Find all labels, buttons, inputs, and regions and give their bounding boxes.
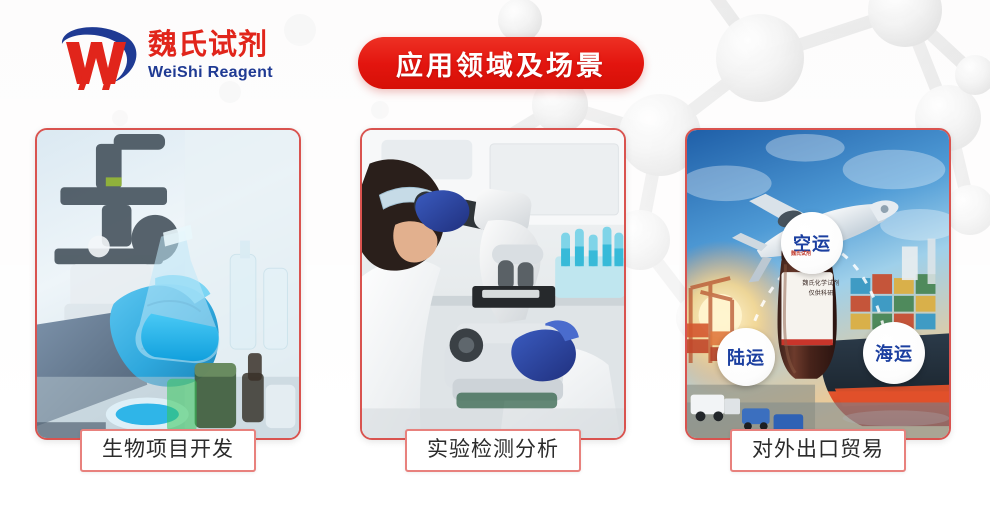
card-caption-text: 实验检测分析 bbox=[427, 438, 559, 461]
page-canvas: 魏氏试剂 WeiShi Reagent 应用领域及场景 bbox=[0, 0, 990, 513]
card-image-frame: 空运 陆运 海运 魏氏试剂 魏氏化学试剂 仅供科研 bbox=[685, 128, 951, 440]
card-export-trade[interactable]: 空运 陆运 海运 魏氏试剂 魏氏化学试剂 仅供科研 对外出口贸易 bbox=[685, 128, 951, 440]
bottle-label-line-1: 魏氏化学试剂 bbox=[793, 280, 849, 288]
card-caption: 实验检测分析 bbox=[405, 429, 581, 472]
card-caption: 对外出口贸易 bbox=[730, 429, 906, 472]
bottle-label-line-2: 仅供科研 bbox=[793, 290, 849, 298]
cards-row: 生物项目开发 bbox=[0, 0, 990, 513]
card-caption-text: 对外出口贸易 bbox=[752, 438, 884, 461]
logistics-bubble-air: 空运 bbox=[781, 212, 843, 274]
card-lab-analysis[interactable]: 实验检测分析 bbox=[360, 128, 626, 440]
bottle-brand-text: 魏氏试剂 bbox=[791, 250, 825, 259]
logistics-bubble-sea: 海运 bbox=[863, 322, 925, 384]
card-image-frame bbox=[360, 128, 626, 440]
photo-scientist-microscope bbox=[362, 130, 624, 438]
logistics-bubble-land-label: 陆运 bbox=[727, 344, 765, 370]
logistics-bubble-sea-label: 海运 bbox=[875, 340, 913, 366]
logistics-bubble-land: 陆运 bbox=[717, 328, 775, 386]
card-caption: 生物项目开发 bbox=[80, 429, 256, 472]
card-bio-project[interactable]: 生物项目开发 bbox=[35, 128, 301, 440]
card-image-frame bbox=[35, 128, 301, 440]
card-caption-text: 生物项目开发 bbox=[102, 438, 234, 461]
photo-gloved-hand-flask bbox=[37, 130, 299, 438]
